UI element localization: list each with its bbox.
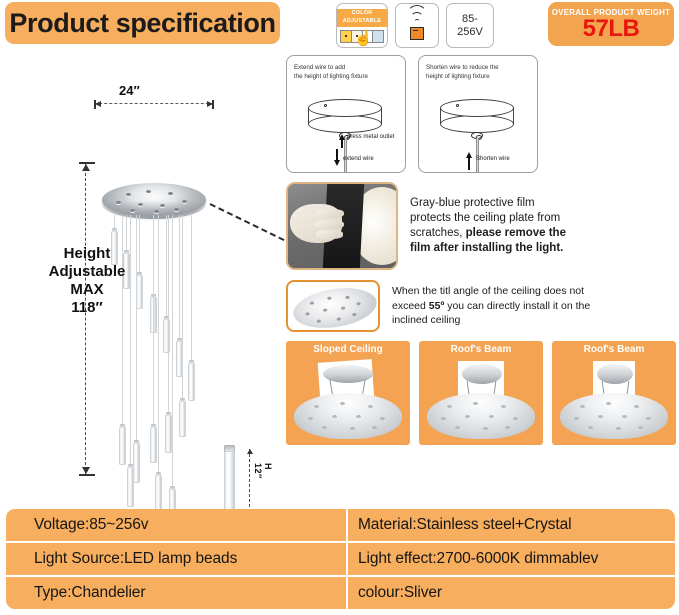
spec-cell-material: Material:Stainless steel+Crystal <box>348 509 675 541</box>
roofs-beam-illustration-1 <box>424 359 538 441</box>
tilt-note-line-1: When the titl angle of the ceiling does … <box>392 284 590 299</box>
protective-film-note: Gray-blue protective film protects the c… <box>410 196 566 256</box>
extend-wire-line-2: the height of lighting fixture <box>294 72 400 81</box>
canopy-cylinder-illustration <box>440 99 514 133</box>
spec-cell-voltage: Voltage:85~256v <box>6 509 346 541</box>
ceiling-card-title: Sloped Ceiling <box>286 341 410 358</box>
press-metal-outlet-note: press metal outlet <box>347 134 394 140</box>
product-dimension-diagram: 24″ <box>0 55 282 495</box>
voltage-line-1: 85- <box>457 13 483 26</box>
spec-cell-light-source: Light Source:LED lamp beads <box>6 543 346 575</box>
film-note-line-4-bold: film after installing the light. <box>410 242 563 254</box>
wire-adjustment-row: Extend wire to add the height of lightin… <box>286 55 676 173</box>
ceiling-plate-dome <box>560 393 668 439</box>
spec-cell-type: Type:Chandelier <box>6 577 346 609</box>
installation-guide-column: Extend wire to add the height of lightin… <box>286 55 676 445</box>
page-title-badge: Product specification <box>5 2 280 44</box>
tilt-angle-note: When the titl angle of the ceiling does … <box>392 284 590 328</box>
page-title: Product specification <box>9 8 275 39</box>
color-adjustable-icon: COLOR ADJUSTABLE ☝ <box>336 3 388 48</box>
protective-film-photo <box>286 182 398 270</box>
weight-badge: OVERALL PRODUCT WEIGHT 57LB <box>548 2 674 46</box>
crystal-height-dimension-line <box>249 449 250 517</box>
film-note-line-3-normal: scratches, <box>410 227 466 239</box>
film-note-line-1: Gray-blue protective film <box>410 196 566 211</box>
shorten-wire-line-2: height of lighting fixture <box>426 72 532 81</box>
specification-table: Voltage:85~256v Material:Stainless steel… <box>6 509 673 609</box>
tilt-note-line-2-pre: exceed <box>392 300 429 312</box>
sloped-ceiling-illustration <box>291 359 405 441</box>
film-note-line-3-bold: please remove the <box>466 227 566 239</box>
extend-wire-line-1: Extend wire to add <box>294 63 400 72</box>
extend-wire-card: Extend wire to add the height of lightin… <box>286 55 406 173</box>
ceiling-plate-tilted <box>291 283 380 332</box>
voltage-line-2: 256V <box>457 26 483 39</box>
signal-arcs-icon <box>406 12 428 25</box>
film-note-line-2: protects the ceiling plate from <box>410 211 566 226</box>
swatch-cool <box>373 31 383 42</box>
ceiling-card-roofs-beam-2: Roof's Beam <box>552 341 676 445</box>
height-dimension-line <box>85 163 86 475</box>
extend-wire-note: extend wire <box>343 156 374 162</box>
tilt-angle-row: When the titl angle of the ceiling does … <box>286 280 676 332</box>
ceiling-type-row: Sloped Ceiling <box>286 341 676 445</box>
swatch-warm <box>341 31 352 42</box>
ceiling-plate-dome <box>427 393 535 439</box>
hand-pointer-icon: ☝ <box>354 31 373 46</box>
voltage-icon: 85- 256V <box>446 3 494 48</box>
shorten-wire-line-1: Shorten wire to reduce the <box>426 63 532 72</box>
shorten-wire-note: Shorten wire <box>476 156 510 162</box>
tilt-note-line-2-post: you can directly install it on the <box>444 300 590 312</box>
ceiling-card-title: Roof's Beam <box>419 341 543 358</box>
ceiling-card-title: Roof's Beam <box>552 341 676 358</box>
ceiling-card-roofs-beam-1: Roof's Beam <box>419 341 543 445</box>
ceiling-card-sloped-ceiling: Sloped Ceiling <box>286 341 410 445</box>
tilted-plate-photo <box>286 280 380 332</box>
spec-cell-colour: colour:Sliver <box>348 577 675 609</box>
roofs-beam-illustration-2 <box>557 359 671 441</box>
weight-value: 57LB <box>583 17 640 41</box>
protective-film-row: Gray-blue protective film protects the c… <box>286 182 676 270</box>
height-dimension-label: Height Adjustable MAX 118″ <box>28 245 146 317</box>
spec-cell-light-effect: Light effect:2700-6000K dimmablev <box>348 543 675 575</box>
height-label-line-1: Height <box>28 245 146 263</box>
remote-device-icon <box>410 27 424 40</box>
canopy-cylinder-illustration <box>308 99 382 133</box>
product-specification-infographic: Product specification COLOR ADJUSTABLE ☝ <box>0 0 679 615</box>
ceiling-plate-dome <box>294 393 402 439</box>
tilt-note-line-3: inclined ceiling <box>392 313 590 328</box>
color-adjustable-label: COLOR ADJUSTABLE <box>337 9 387 27</box>
height-label-line-2: Adjustable <box>28 263 146 281</box>
width-dimension-line <box>94 103 214 104</box>
height-label-line-3: MAX <box>28 281 146 299</box>
tilt-angle-value: 55º <box>429 300 445 312</box>
feature-icon-row: COLOR ADJUSTABLE ☝ 85- 256V <box>336 3 494 48</box>
width-dimension-label: 24″ <box>119 83 140 98</box>
crystal-height-label: H 12″ <box>253 463 273 479</box>
shorten-wire-card: Shorten wire to reduce the height of lig… <box>418 55 538 173</box>
height-label-line-4: 118″ <box>28 299 146 317</box>
remote-control-icon <box>395 3 439 48</box>
